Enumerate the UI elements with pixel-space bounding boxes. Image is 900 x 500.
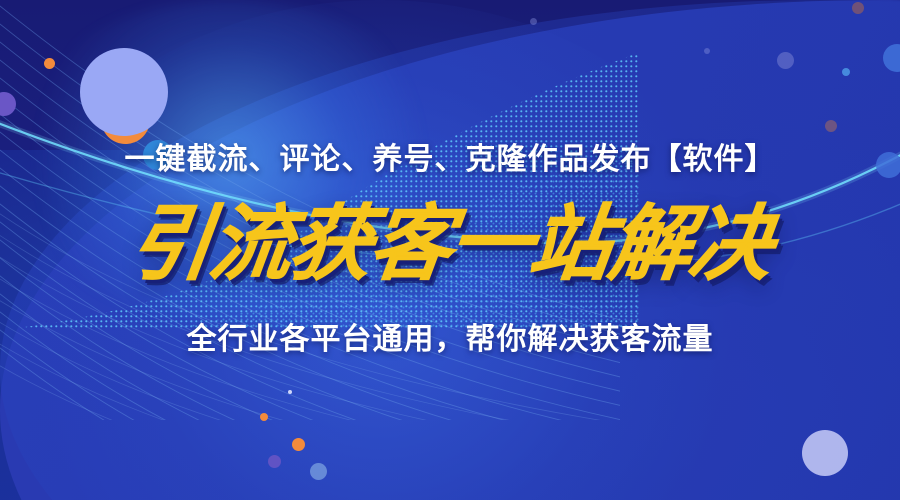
banner-headline: 引流获客一站解决 xyxy=(125,204,775,286)
banner-subtitle-bottom: 全行业各平台通用，帮你解决获客流量 xyxy=(187,322,714,358)
banner-content: 一键截流、评论、养号、克隆作品发布【软件】 引流获客一站解决 全行业各平台通用，… xyxy=(0,0,900,500)
promo-banner: 一键截流、评论、养号、克隆作品发布【软件】 引流获客一站解决 全行业各平台通用，… xyxy=(0,0,900,500)
banner-subtitle-top: 一键截流、评论、养号、克隆作品发布【软件】 xyxy=(125,142,776,178)
